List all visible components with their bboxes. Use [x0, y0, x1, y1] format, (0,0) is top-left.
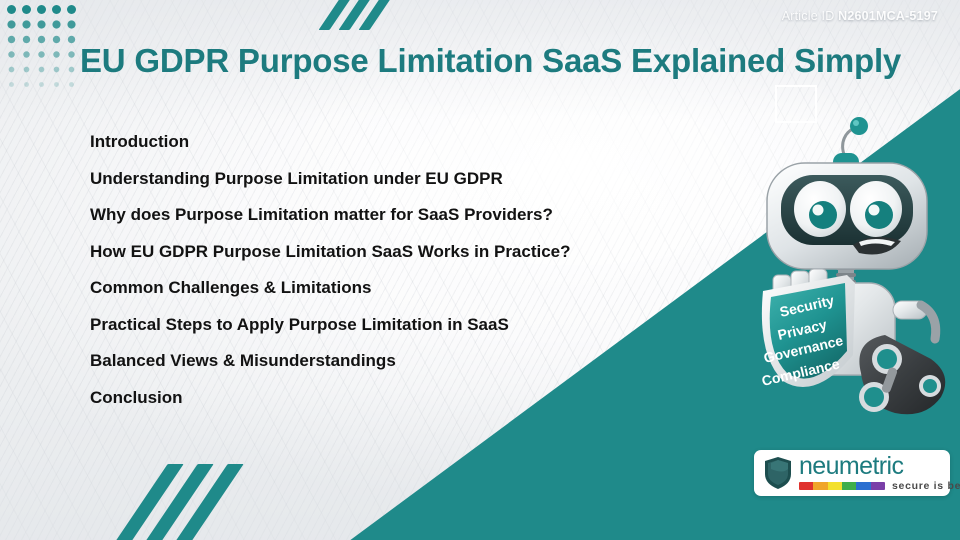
logo-color-segment: [828, 482, 842, 490]
toc-item-0[interactable]: Introduction: [90, 133, 670, 150]
logo-wordmark: neumetric: [799, 454, 960, 478]
top-diagonal-stripes: [330, 0, 381, 30]
slide-canvas: Article ID N2601MCA-5197 EU GDPR Purpose…: [0, 0, 960, 540]
dot: [38, 36, 45, 43]
toc-item-3[interactable]: How EU GDPR Purpose Limitation SaaS Work…: [90, 243, 670, 260]
dot-grid-row: [4, 17, 79, 32]
logo-bottom-row: secure is better: [799, 480, 960, 492]
robot-mascot-illustration: Security Privacy Governance Compliance: [735, 105, 960, 435]
dot: [24, 82, 29, 87]
dot-grid-row: [4, 47, 79, 62]
table-of-contents: IntroductionUnderstanding Purpose Limita…: [90, 133, 670, 425]
logo-shield-icon: [763, 456, 793, 490]
robot-pupil-glint-right: [869, 205, 880, 216]
dot: [54, 67, 60, 73]
dot: [23, 36, 30, 43]
robot-iris-right: [865, 201, 893, 229]
toc-item-4[interactable]: Common Challenges & Limitations: [90, 279, 670, 296]
toc-item-2[interactable]: Why does Purpose Limitation matter for S…: [90, 206, 670, 223]
toc-item-7[interactable]: Conclusion: [90, 389, 670, 406]
toc-item-6[interactable]: Balanced Views & Misunderstandings: [90, 352, 670, 369]
robot-track: [859, 335, 945, 414]
dot-grid-decoration: [4, 2, 79, 92]
page-title: EU GDPR Purpose Limitation SaaS Explaine…: [80, 43, 940, 80]
logo-color-segment: [799, 482, 813, 490]
robot-right-arm: [893, 301, 936, 339]
dot: [39, 82, 44, 87]
dot: [67, 5, 76, 14]
dot: [54, 82, 59, 87]
logo-color-segment: [856, 482, 870, 490]
dot: [22, 20, 30, 28]
dot-grid-row: [4, 32, 79, 47]
article-id-label: Article ID: [782, 9, 835, 23]
dot: [68, 36, 75, 43]
dot: [69, 67, 75, 73]
toc-item-5[interactable]: Practical Steps to Apply Purpose Limitat…: [90, 316, 670, 333]
dot: [53, 36, 60, 43]
neumetric-logo[interactable]: neumetric secure is better: [754, 450, 950, 496]
dot: [22, 5, 31, 14]
dot-grid-row: [4, 77, 79, 92]
dot: [7, 20, 15, 28]
dot: [38, 51, 44, 57]
dot: [37, 5, 46, 14]
bottom-diagonal-stripes: [140, 464, 216, 540]
dot: [9, 67, 15, 73]
article-id-code: N2601MCA-5197: [838, 9, 938, 23]
dot: [53, 51, 59, 57]
dot: [8, 36, 15, 43]
logo-color-segment: [871, 482, 885, 490]
logo-tagline: secure is better: [892, 480, 960, 492]
dot: [37, 20, 45, 28]
article-id: Article ID N2601MCA-5197: [782, 9, 938, 23]
robot-antenna-bulb: [850, 117, 868, 135]
dot: [52, 20, 60, 28]
dot: [52, 5, 61, 14]
robot-mascot: Security Privacy Governance Compliance: [735, 105, 960, 435]
dot: [68, 51, 74, 57]
dot-grid-row: [4, 2, 79, 17]
toc-item-1[interactable]: Understanding Purpose Limitation under E…: [90, 170, 670, 187]
robot-pupil-glint-left: [813, 205, 824, 216]
dot: [8, 51, 14, 57]
dot: [7, 5, 16, 14]
robot-iris-left: [809, 201, 837, 229]
dot: [24, 67, 30, 73]
dot: [23, 51, 29, 57]
dot: [9, 82, 14, 87]
logo-color-segment: [813, 482, 827, 490]
logo-color-segment: [842, 482, 856, 490]
logo-text-block: neumetric secure is better: [799, 454, 960, 492]
dot-grid-row: [4, 62, 79, 77]
logo-color-bar: [799, 482, 885, 490]
dot: [69, 82, 74, 87]
dot: [67, 20, 75, 28]
dot: [39, 67, 45, 73]
robot-antenna-highlight: [853, 120, 859, 126]
